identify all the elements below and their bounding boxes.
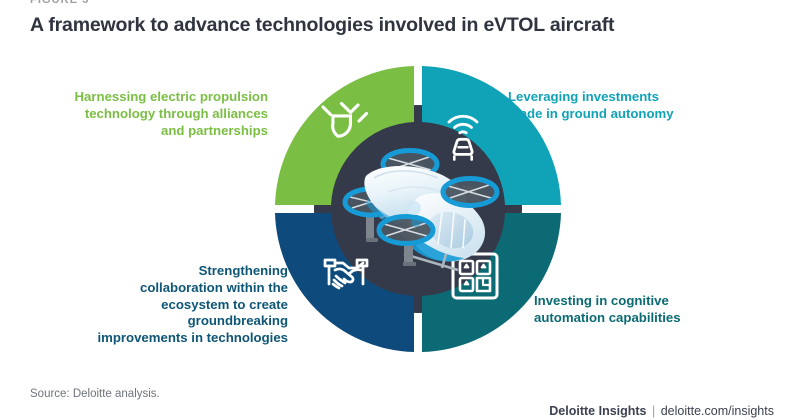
page-title: A framework to advance technologies invo… bbox=[30, 14, 614, 37]
brand-separator: | bbox=[650, 404, 657, 418]
source-note: Source: Deloitte analysis. bbox=[30, 388, 160, 400]
callout-label-top-right: Leveraging investments made in ground au… bbox=[508, 89, 674, 123]
brand-footer: Deloitte Insights | deloitte.com/insight… bbox=[549, 404, 774, 418]
callout-label-bottom-left: Strengthening collaboration within the e… bbox=[97, 263, 288, 347]
callout-label-top-left: Harnessing electric propulsion technolog… bbox=[75, 89, 268, 139]
callout-label-bottom-right: Investing in cognitive automation capabi… bbox=[534, 293, 681, 327]
brand-url[interactable]: deloitte.com/insights bbox=[661, 404, 774, 418]
brand-name: Deloitte Insights bbox=[549, 404, 646, 418]
figure-kicker: FIGURE 3 bbox=[30, 0, 90, 6]
